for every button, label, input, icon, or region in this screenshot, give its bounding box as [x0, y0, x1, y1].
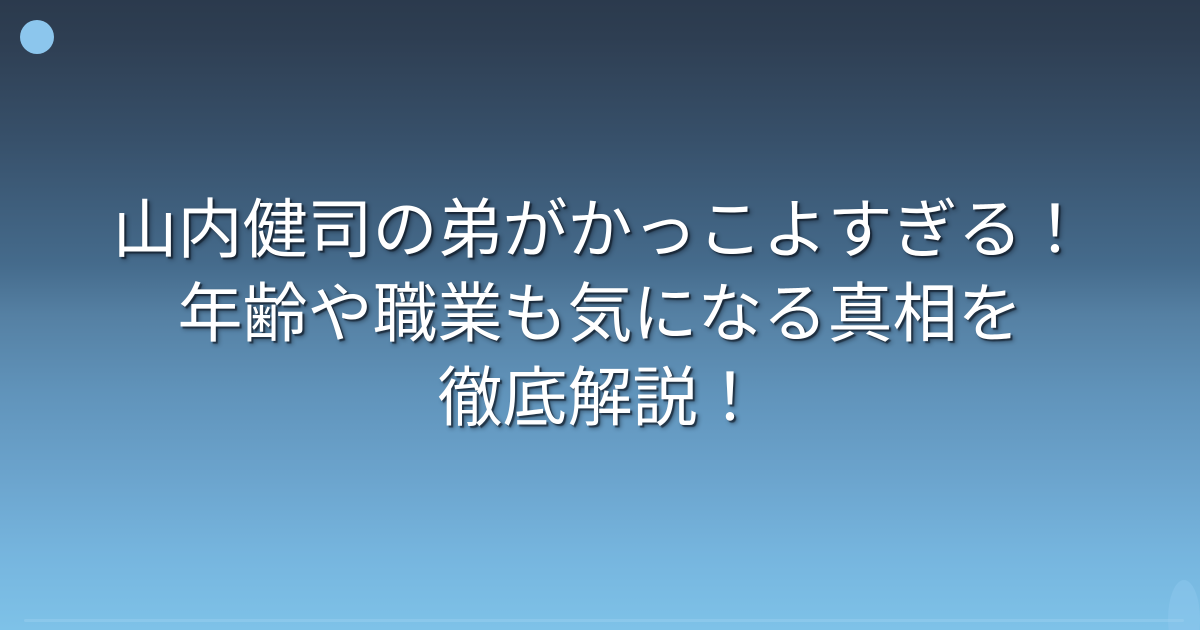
title-block: 山内健司の弟がかっこよすぎる！ 年齢や職業も気になる真相を 徹底解説！: [0, 0, 1200, 630]
page-title: 山内健司の弟がかっこよすぎる！ 年齢や職業も気になる真相を 徹底解説！: [40, 189, 1160, 441]
thumbnail-canvas: 山内健司の弟がかっこよすぎる！ 年齢や職業も気になる真相を 徹底解説！: [0, 0, 1200, 630]
